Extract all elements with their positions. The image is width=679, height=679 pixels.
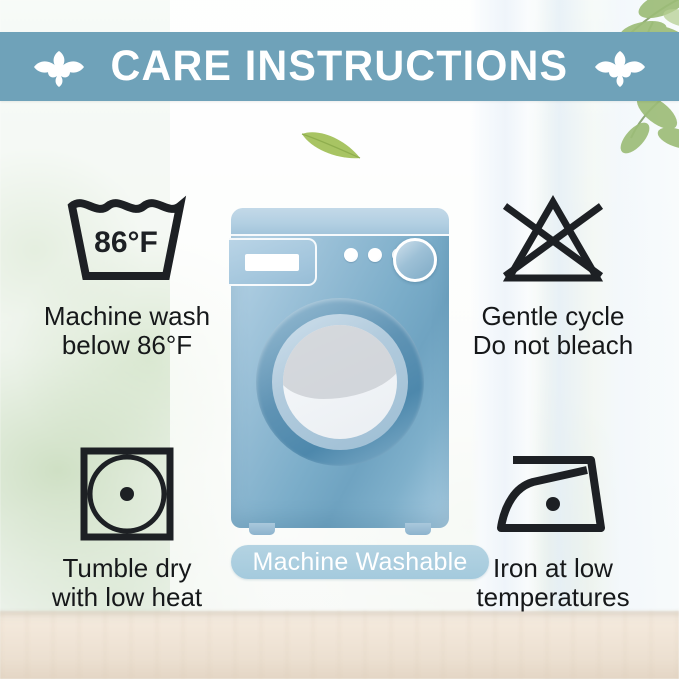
triangle-crossed-out-icon-wrap [493,188,613,296]
care-item-iron-low: Iron at low temperatures [443,440,663,612]
page-title: CARE INSTRUCTIONS [111,45,569,88]
drawer-slot [245,254,299,271]
care-item-machine-wash: 86°F Machine wash below 86°F [17,188,237,360]
wash-tub-icon: 86°F [62,192,192,292]
door-glass-shadow [283,325,397,399]
door-glass [283,325,397,439]
iron-one-dot-icon-wrap [491,440,615,548]
status-badge: Machine Washable [231,545,489,579]
machine-top-panel [231,208,449,236]
care-caption-do-not-bleach: Gentle cycle Do not bleach [473,302,633,360]
iron-one-dot-icon [491,448,615,540]
wash-temperature-label: 86°F [94,226,158,259]
control-button [368,248,382,262]
washing-machine-illustration [231,208,449,528]
care-item-tumble-dry: Tumble dry with low heat [17,440,237,612]
program-dial [393,238,437,282]
care-caption-tumble-dry: Tumble dry with low heat [52,554,202,612]
fleur-de-lis-icon [594,46,646,88]
detergent-drawer [229,238,317,286]
care-caption-iron-low: Iron at low temperatures [476,554,629,612]
fleur-de-lis-icon [33,46,85,88]
care-item-do-not-bleach: Gentle cycle Do not bleach [443,188,663,360]
care-caption-machine-wash: Machine wash below 86°F [44,302,210,360]
care-instructions-infographic: CARE INSTRUCTIONS 86°F Machine wash belo… [0,0,679,679]
machine-foot [249,523,275,535]
door-ring [272,314,408,450]
header-banner: CARE INSTRUCTIONS [0,32,679,101]
floating-leaf-icon [298,124,364,162]
machine-door [256,298,424,466]
triangle-crossed-out-icon [493,192,613,292]
control-button [344,248,358,262]
tumble-dry-low-icon [77,444,177,544]
machine-foot [405,523,431,535]
wood-grain-texture [0,611,679,679]
badge-label: Machine Washable [253,550,468,575]
wash-tub-icon-wrap: 86°F [62,188,192,296]
tumble-dry-low-icon-wrap [77,440,177,548]
